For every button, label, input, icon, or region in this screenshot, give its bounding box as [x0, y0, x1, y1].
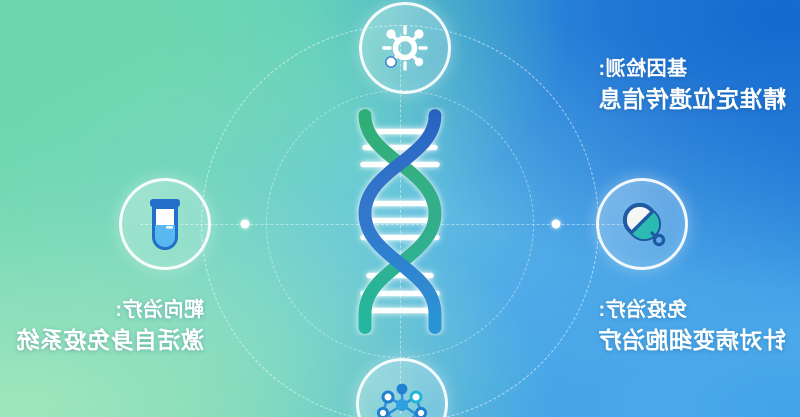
label-gene-testing: 基因检测: 精准定位遗传信息 [598, 56, 786, 115]
node-icon-left[interactable] [119, 178, 211, 270]
infographic-canvas: 基因检测: 精准定位遗传信息 靶向治疗: 激活自身免疫系统 免疫治疗: 针对病变… [0, 0, 800, 417]
label-gene-testing-desc: 精准定位遗传信息 [598, 85, 786, 115]
molecule-network-icon [374, 376, 430, 417]
label-immunotherapy: 免疫治疗: 针对病变细胞治疗 [598, 297, 786, 356]
dna-double-helix-icon [341, 108, 459, 341]
node-icon-right[interactable] [596, 178, 688, 270]
connector-dot-left [241, 220, 250, 229]
label-targeted-therapy: 靶向治疗: 激活自身免疫系统 [16, 297, 204, 356]
pill-capsule-icon [614, 196, 670, 252]
label-immunotherapy-title: 免疫治疗: [598, 297, 786, 323]
label-immunotherapy-desc: 针对病变细胞治疗 [598, 326, 786, 356]
node-icon-top[interactable] [359, 2, 451, 94]
node-icon-bottom[interactable] [356, 358, 448, 417]
label-targeted-therapy-title: 靶向治疗: [16, 297, 204, 323]
label-targeted-therapy-desc: 激活自身免疫系统 [16, 326, 204, 356]
label-gene-testing-title: 基因检测: [598, 56, 786, 82]
test-tube-icon [141, 195, 189, 253]
cell-receptor-icon [378, 21, 432, 75]
connector-dot-right [552, 220, 561, 229]
